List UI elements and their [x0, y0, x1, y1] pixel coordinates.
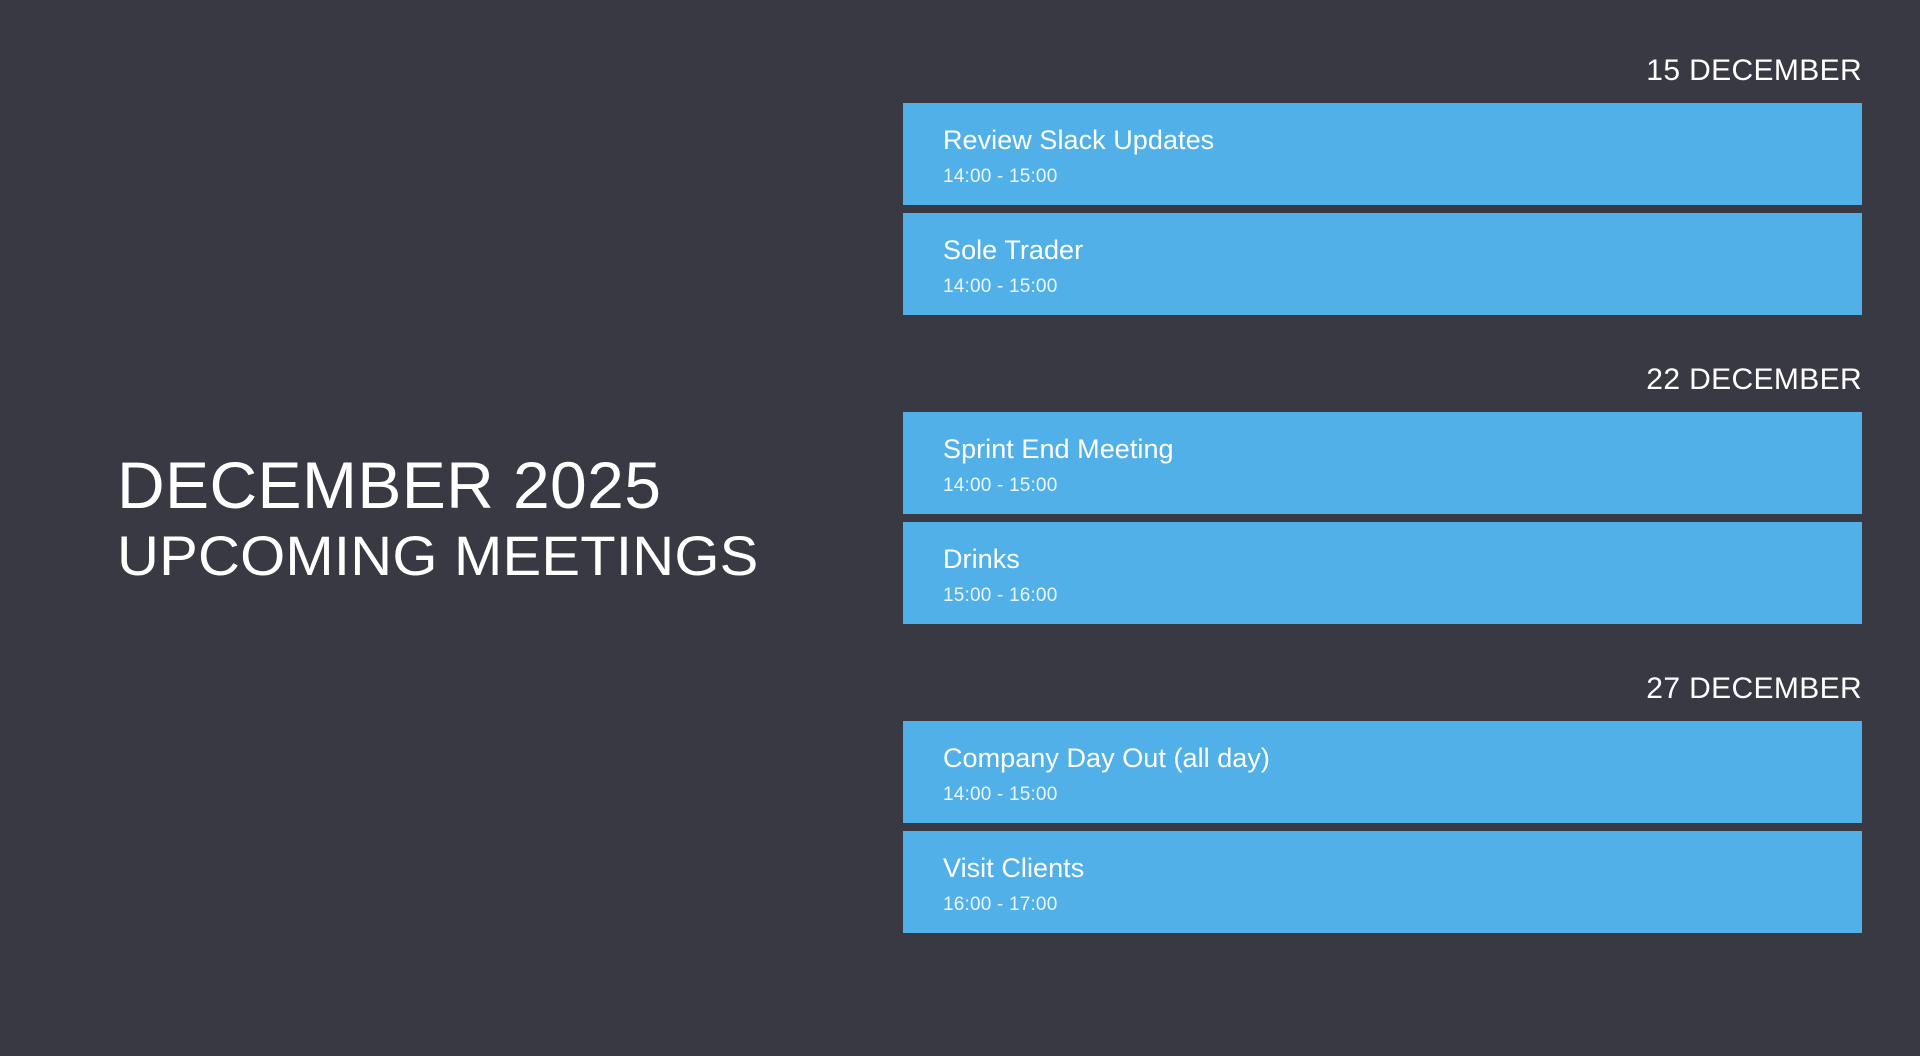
event-time: 16:00 - 17:00 [943, 894, 1862, 917]
event-time: 14:00 - 15:00 [943, 166, 1862, 189]
event-card[interactable]: Sole Trader14:00 - 15:00 [903, 213, 1862, 315]
event-title: Drinks [943, 544, 1862, 576]
event-time: 14:00 - 15:00 [943, 276, 1862, 299]
page-title-block: DECEMBER 2025 UPCOMING MEETINGS [117, 452, 717, 585]
event-title: Sole Trader [943, 235, 1862, 267]
day-group: 27 DECEMBERCompany Day Out (all day)14:0… [903, 674, 1862, 933]
event-title: Company Day Out (all day) [943, 743, 1862, 775]
event-card[interactable]: Drinks15:00 - 16:00 [903, 522, 1862, 624]
event-list: Company Day Out (all day)14:00 - 15:00Vi… [903, 721, 1862, 933]
page-subtitle: UPCOMING MEETINGS [117, 526, 738, 585]
event-title: Review Slack Updates [943, 125, 1862, 157]
day-group: 15 DECEMBERReview Slack Updates14:00 - 1… [903, 56, 1862, 315]
agenda-list: 15 DECEMBERReview Slack Updates14:00 - 1… [903, 56, 1862, 933]
event-time: 14:00 - 15:00 [943, 784, 1862, 807]
event-card[interactable]: Company Day Out (all day)14:00 - 15:00 [903, 721, 1862, 823]
event-time: 15:00 - 16:00 [943, 585, 1862, 608]
event-card[interactable]: Review Slack Updates14:00 - 15:00 [903, 103, 1862, 205]
event-card[interactable]: Visit Clients16:00 - 17:00 [903, 831, 1862, 933]
event-title: Visit Clients [943, 853, 1862, 885]
event-time: 14:00 - 15:00 [943, 475, 1862, 498]
day-group: 22 DECEMBERSprint End Meeting14:00 - 15:… [903, 365, 1862, 624]
calendar-display: DECEMBER 2025 UPCOMING MEETINGS 15 DECEM… [0, 0, 1920, 1056]
event-list: Sprint End Meeting14:00 - 15:00Drinks15:… [903, 412, 1862, 624]
event-card[interactable]: Sprint End Meeting14:00 - 15:00 [903, 412, 1862, 514]
event-list: Review Slack Updates14:00 - 15:00Sole Tr… [903, 103, 1862, 315]
day-header-date: 22 DECEMBER [903, 365, 1862, 412]
day-header-date: 27 DECEMBER [903, 674, 1862, 721]
day-header-date: 15 DECEMBER [903, 56, 1862, 103]
event-title: Sprint End Meeting [943, 434, 1862, 466]
page-title: DECEMBER 2025 [117, 452, 717, 518]
